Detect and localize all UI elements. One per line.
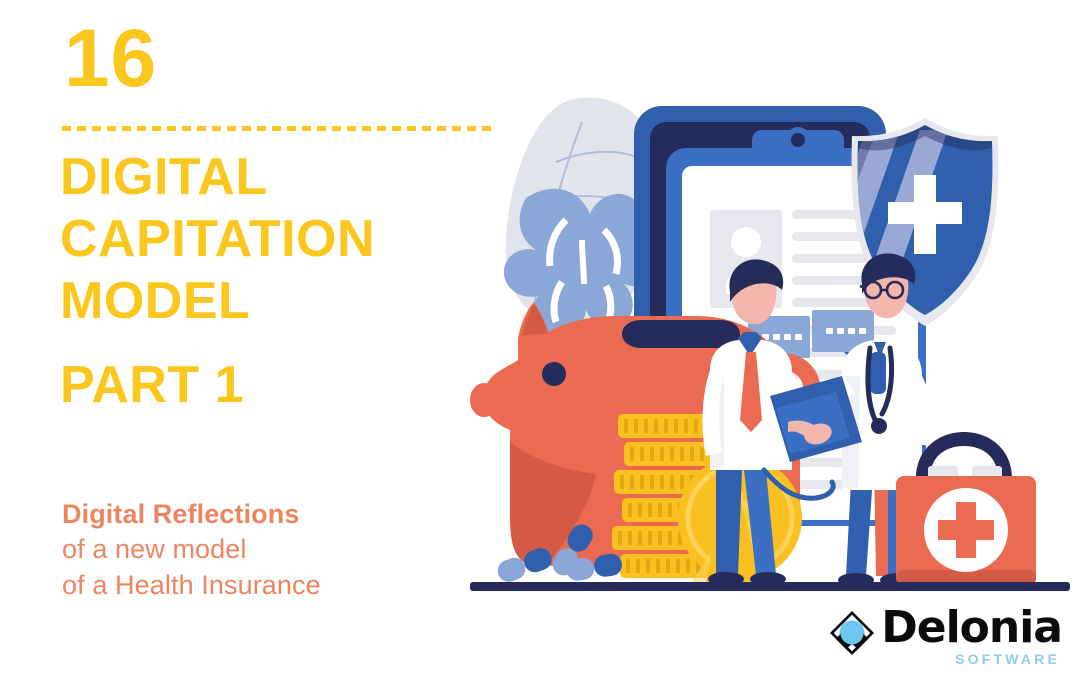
ground-line (470, 582, 1070, 591)
logo-tagline: SOFTWARE (955, 651, 1060, 667)
subtitle-line-3: of a Health Insurance (62, 567, 492, 603)
page-title: DIGITAL CAPITATION MODEL PART 1 (60, 146, 500, 416)
issue-number: 16 (64, 18, 157, 100)
headline-line-2: CAPITATION (60, 208, 500, 270)
subtitle-line-2: of a new model (62, 531, 492, 567)
subtitle-block: Digital Reflections of a new model of a … (62, 497, 492, 603)
logo-text: Delonia SOFTWARE (881, 606, 1062, 667)
headline-line-1: DIGITAL (60, 146, 500, 208)
slide-canvas: 16 DIGITAL CAPITATION MODEL PART 1 Digit… (0, 0, 1080, 675)
piggy-eye (542, 362, 566, 386)
piggy-coin-slot (622, 320, 740, 348)
dashed-divider (62, 126, 496, 131)
health-insurance-illustration: $ (470, 70, 1070, 600)
title-block: 16 DIGITAL CAPITATION MODEL PART 1 Digit… (0, 0, 520, 675)
headline-line-4: PART 1 (60, 354, 500, 416)
logo-wordmark: Delonia (881, 606, 1062, 650)
subtitle-strong: Digital Reflections (62, 497, 492, 531)
headline-line-3: MODEL (60, 270, 500, 332)
diamond-circle-icon (829, 610, 875, 656)
delonia-logo[interactable]: Delonia SOFTWARE (829, 606, 1062, 667)
